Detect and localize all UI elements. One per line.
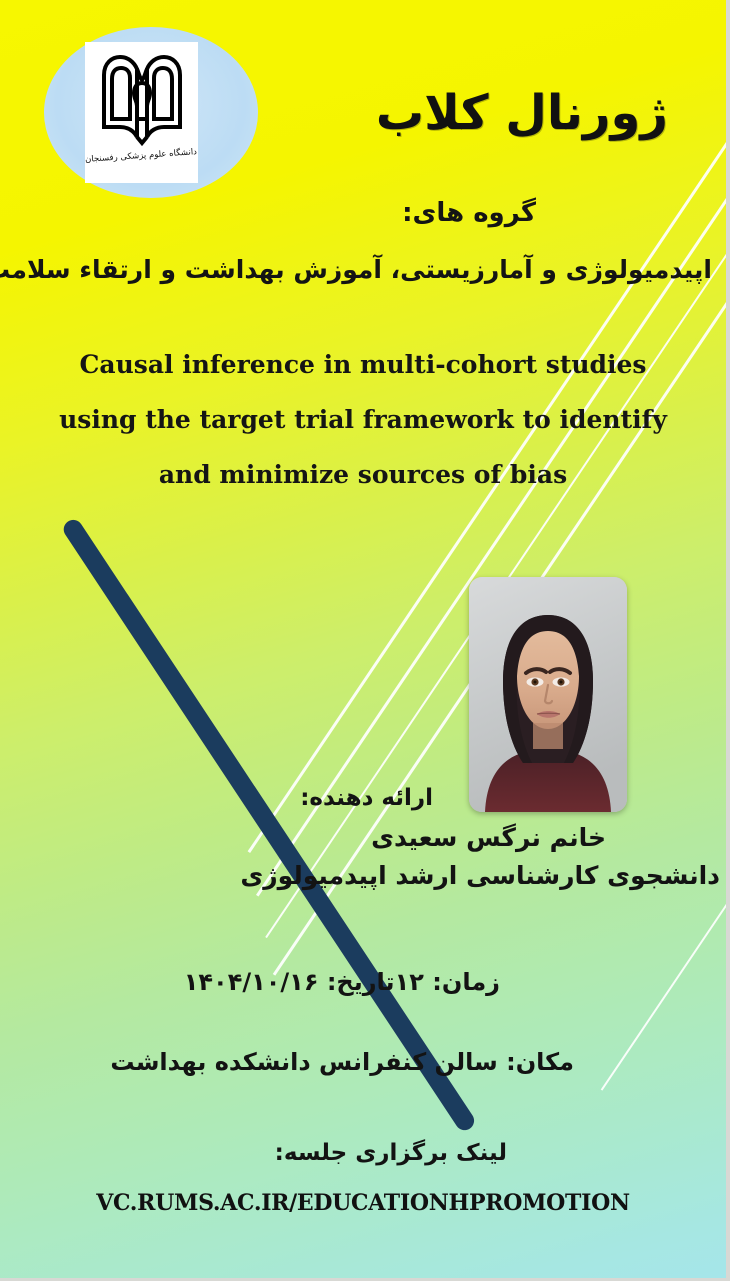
- schedule-row: زمان: ۱۲تاریخ: ۱۴۰۴/۱۰/۱۶: [184, 968, 538, 996]
- page-title: ژورنال کلاب: [376, 85, 668, 141]
- logo-caption: دانشگاه علوم پزشکی رفسنجان: [85, 147, 198, 165]
- time-text: زمان: ۱۲: [395, 968, 500, 996]
- groups-label: گروه های:: [402, 198, 536, 228]
- open-book-mihrab-emblem-icon: [96, 49, 188, 149]
- presenter-label: ارائه دهنده:: [300, 785, 433, 811]
- link-label: لینک برگزاری جلسه:: [275, 1140, 507, 1166]
- presenter-photo: [469, 577, 627, 812]
- english-title-line-1: Causal inference in multi-cohort studies: [0, 352, 726, 377]
- presenter-degree: دانشجوی کارشناسی ارشد اپیدمیولوژی: [240, 861, 720, 890]
- meeting-link-url[interactable]: VC.RUMS.AC.IR/EDUCATIONHPROMOTION: [0, 1190, 726, 1216]
- deco-line-5: [601, 899, 726, 1091]
- presenter-name: خانم نرگس سعیدی: [371, 823, 606, 852]
- poster-canvas: دانشگاه علوم پزشکی رفسنجان ژورنال کلاب گ…: [0, 0, 730, 1281]
- university-logo: دانشگاه علوم پزشکی رفسنجان: [85, 42, 198, 183]
- english-title-line-2: using the target trial framework to iden…: [0, 407, 726, 432]
- english-title: Causal inference in multi-cohort studies…: [0, 352, 726, 517]
- date-text: تاریخ: ۱۴۰۴/۱۰/۱۶: [184, 968, 395, 996]
- groups-value: اپیدمیولوژی و آمارزیستی، آموزش بهداشت و …: [14, 255, 712, 284]
- venue-text: مکان: سالن کنفرانس دانشکده بهداشت: [110, 1048, 574, 1076]
- english-title-line-3: and minimize sources of bias: [0, 462, 726, 487]
